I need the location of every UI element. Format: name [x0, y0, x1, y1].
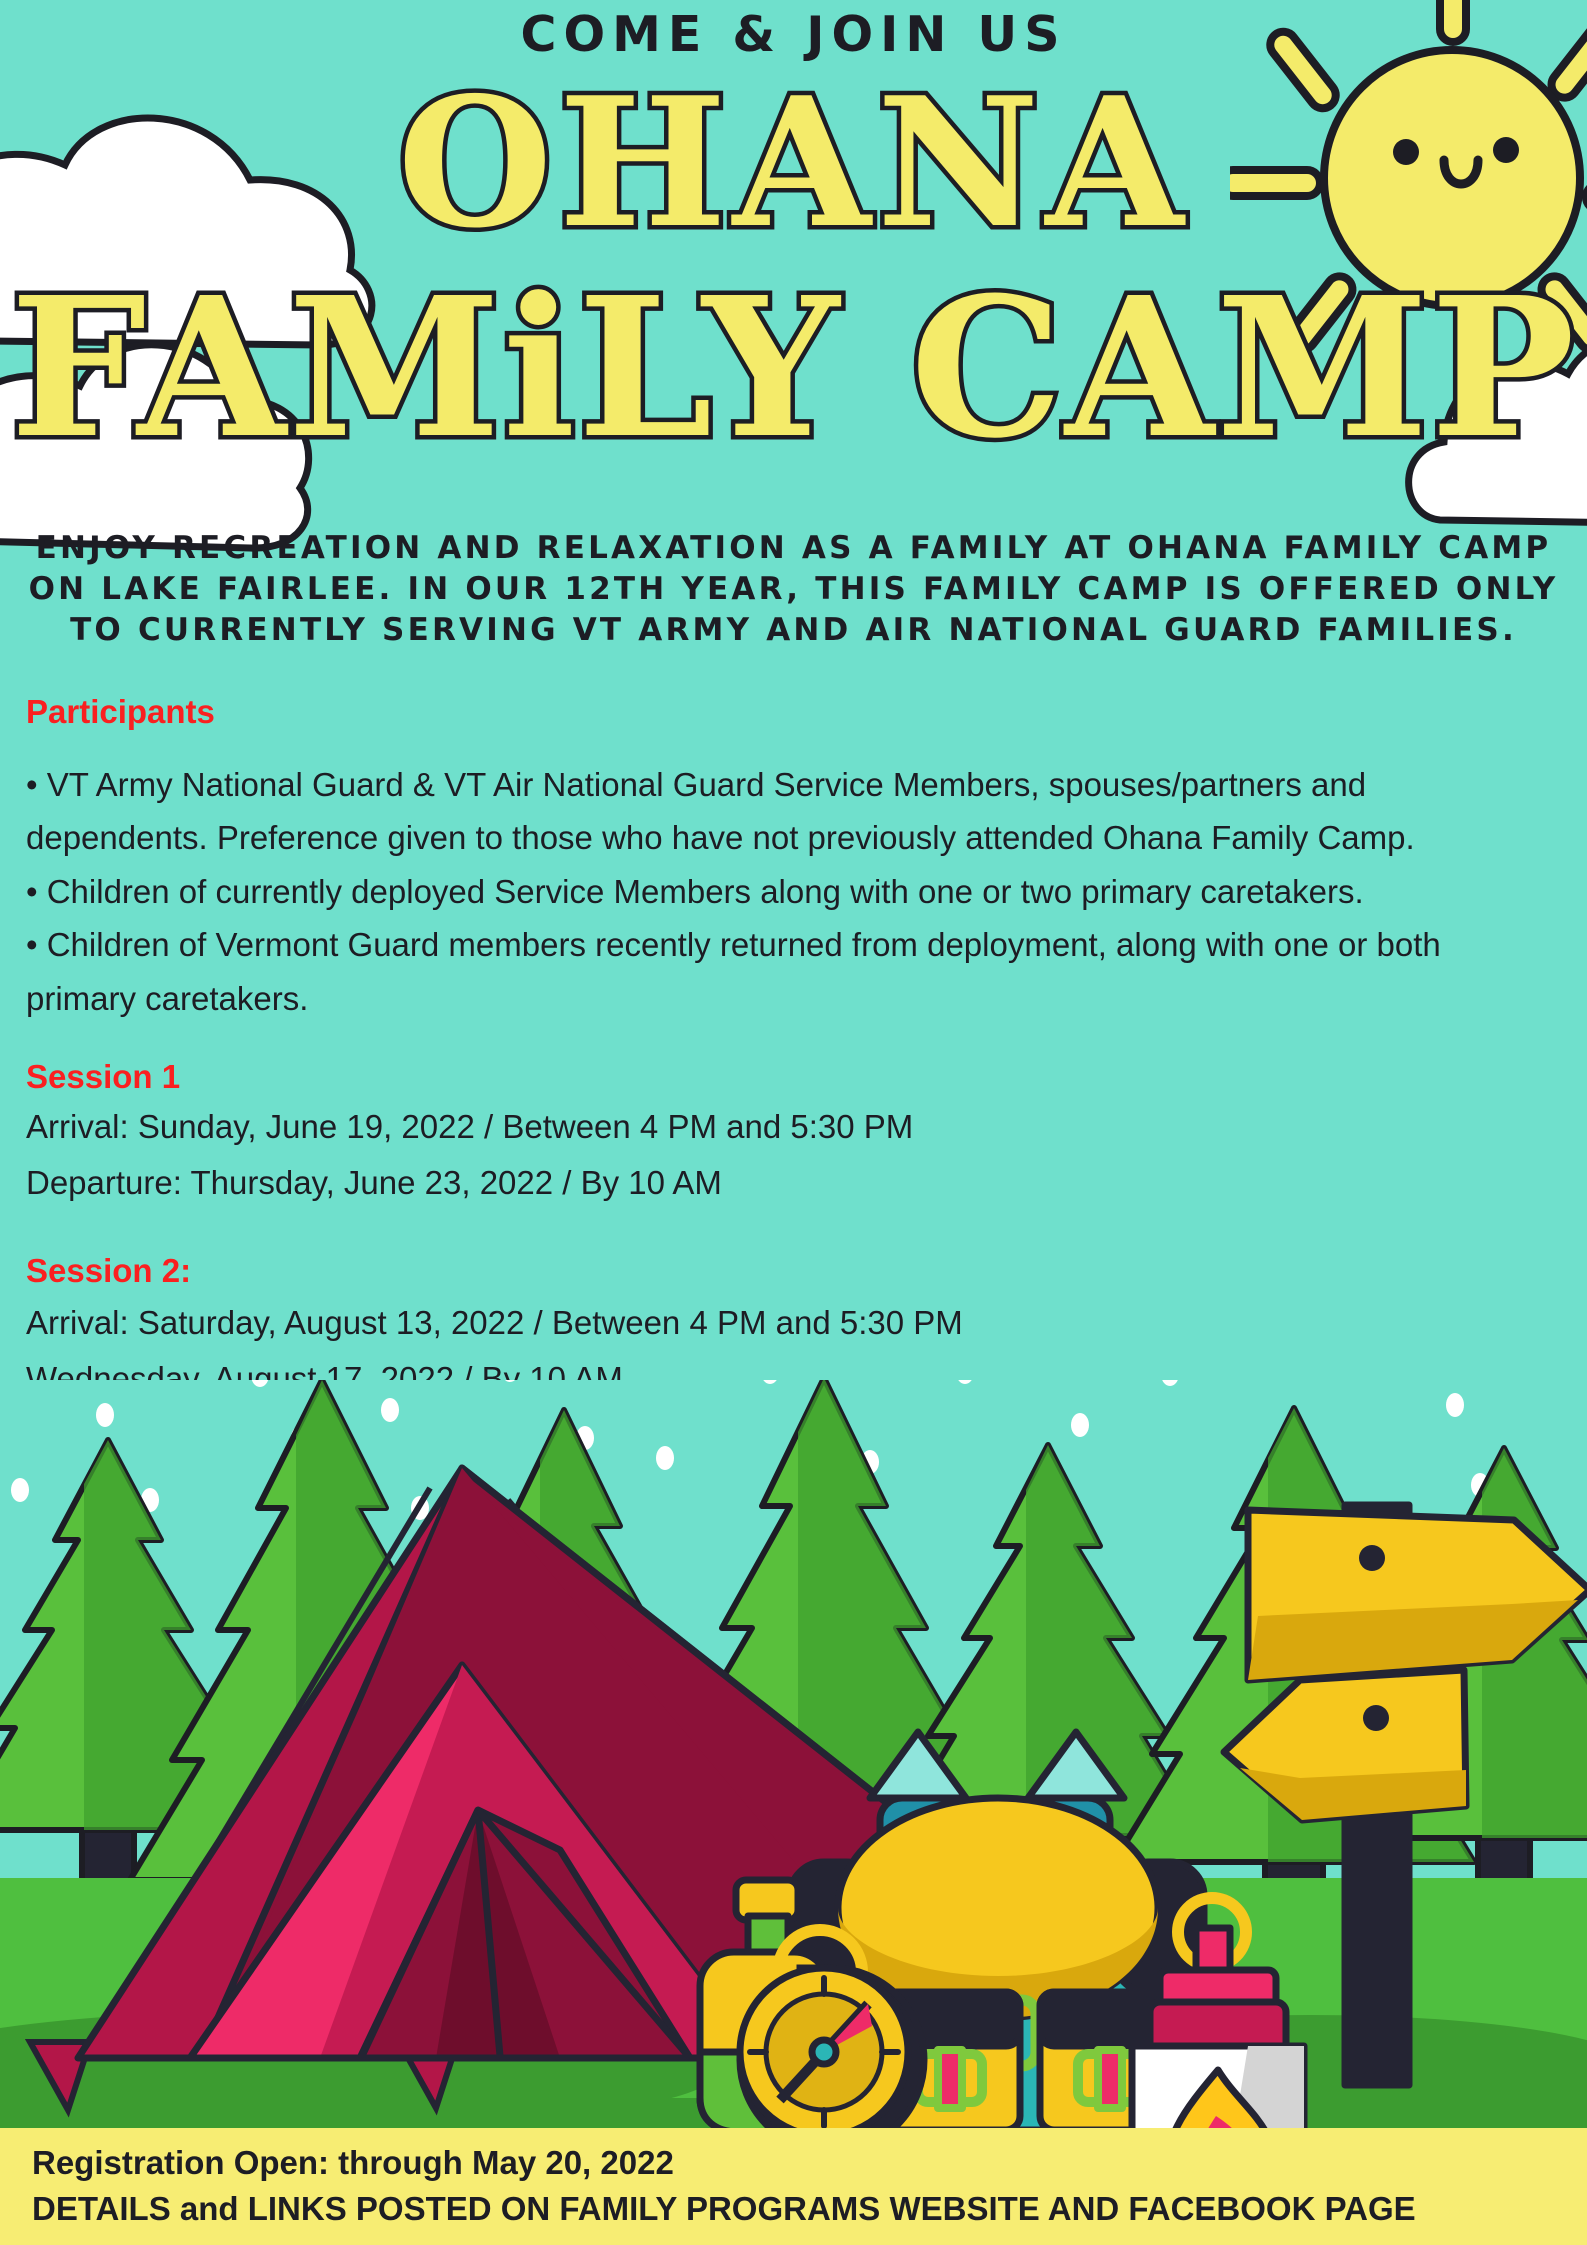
- session-2-heading: Session 2:: [26, 1252, 191, 1290]
- list-item: primary caretakers.: [26, 972, 1556, 1025]
- page-title-line2: FAMiLY CAMP: [0, 278, 1587, 460]
- list-item: • Children of currently deployed Service…: [26, 865, 1556, 918]
- registration-note: Registration Open: through May 20, 2022: [32, 2144, 674, 2182]
- session-2-arrival: Arrival: Saturday, August 13, 2022 / Bet…: [26, 1304, 963, 1342]
- camping-illustration: [0, 1380, 1587, 2130]
- list-item: dependents. Preference given to those wh…: [26, 811, 1556, 864]
- participants-list: • VT Army National Guard & VT Air Nation…: [26, 758, 1556, 1025]
- details-note: DETAILS and LINKS POSTED ON FAMILY PROGR…: [32, 2190, 1416, 2228]
- eyebrow-text: COME & JOIN US: [0, 6, 1587, 63]
- list-item: • VT Army National Guard & VT Air Nation…: [26, 758, 1556, 811]
- session-1-arrival: Arrival: Sunday, June 19, 2022 / Between…: [26, 1108, 913, 1146]
- list-item: • Children of Vermont Guard members rece…: [26, 918, 1556, 971]
- session-1-departure: Departure: Thursday, June 23, 2022 / By …: [26, 1164, 722, 1202]
- page-title-line1: OHANA: [0, 78, 1587, 247]
- footer-banner: Registration Open: through May 20, 2022 …: [0, 2128, 1587, 2245]
- intro-blurb: ENJOY RECREATION AND RELAXATION AS A FAM…: [28, 528, 1559, 652]
- session-1-heading: Session 1: [26, 1058, 180, 1096]
- participants-heading: Participants: [26, 693, 215, 731]
- poster: COME & JOIN US OHANA FAMiLY CAMP ENJOY R…: [0, 0, 1587, 2245]
